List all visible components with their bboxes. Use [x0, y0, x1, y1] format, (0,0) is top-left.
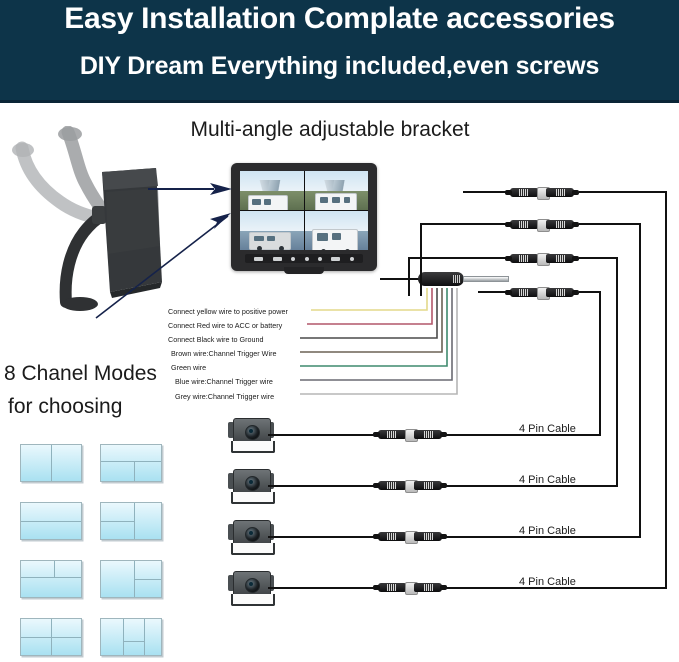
wire-label-yellow: Connect yellow wire to positive power: [168, 307, 288, 316]
mode-tile-split-1-left-3-right[interactable]: [100, 618, 162, 656]
cable-label-1: 4 Pin Cable: [519, 423, 576, 435]
mode-tile-split-1-top-2-bottom[interactable]: [100, 444, 162, 482]
camera-3-connector: [378, 530, 442, 543]
header-title-line1: Easy Installation Complate accessories: [0, 2, 679, 36]
wire-label-grey: Grey wire:Channel Trigger wire: [175, 392, 274, 401]
connector-pair-3: [510, 252, 574, 265]
wire-label-blue: Blue wire:Channel Trigger wire: [175, 377, 273, 386]
mode-tile-split-2-left-1-right[interactable]: [100, 502, 162, 540]
wire-label-brown: Brown wire:Channel Trigger Wire: [171, 349, 276, 358]
header-title-line2: DIY Dream Everything included,even screw…: [0, 52, 679, 81]
screen-quadrant-4: [305, 211, 369, 250]
modes-title-line1: 8 Chanel Modes: [4, 362, 157, 386]
header-banner: Easy Installation Complate accessories D…: [0, 0, 679, 103]
wire-label-red: Connect Red wire to ACC or battery: [168, 321, 282, 330]
monitor-stand: [284, 267, 324, 274]
monitor-screen-quad-view: [240, 171, 368, 250]
connector-pair-4: [510, 286, 574, 299]
camera-2-connector: [378, 479, 442, 492]
monitor-control-buttons[interactable]: [245, 254, 363, 263]
junction-box: [418, 272, 464, 286]
screen-quadrant-1: [240, 171, 304, 210]
channel-mode-grid: [20, 444, 180, 656]
mode-tile-split-2-vertical[interactable]: [20, 444, 82, 482]
header-divider: [0, 100, 679, 103]
adjustable-bracket-illustration: [6, 126, 174, 312]
camera-1-connector: [378, 428, 442, 441]
cable-label-4: 4 Pin Cable: [519, 576, 576, 588]
monitor-display[interactable]: [231, 163, 377, 271]
silver-lead-connector: [463, 276, 509, 282]
mode-tile-split-2-top-1-bottom[interactable]: [20, 560, 82, 598]
screen-quadrant-2: [305, 171, 369, 210]
mode-tile-split-2-horizontal[interactable]: [20, 502, 82, 540]
camera-4-connector: [378, 581, 442, 594]
connector-pair-1: [510, 186, 574, 199]
infographic-root: Easy Installation Complate accessories D…: [0, 0, 679, 662]
screen-quadrant-3: [240, 211, 304, 250]
cable-label-3: 4 Pin Cable: [519, 525, 576, 537]
wire-label-black: Connect Black wire to Ground: [168, 335, 263, 344]
wire-label-green: Green wire: [171, 363, 206, 372]
monitor-trunk-cable: [380, 278, 420, 280]
modes-title-line2: for choosing: [8, 395, 122, 419]
connector-pair-2: [510, 218, 574, 231]
mode-tile-split-4-quad[interactable]: [20, 618, 82, 656]
bracket-title: Multi-angle adjustable bracket: [140, 118, 520, 142]
mode-tile-split-1-left-2-right[interactable]: [100, 560, 162, 598]
cable-label-2: 4 Pin Cable: [519, 474, 576, 486]
